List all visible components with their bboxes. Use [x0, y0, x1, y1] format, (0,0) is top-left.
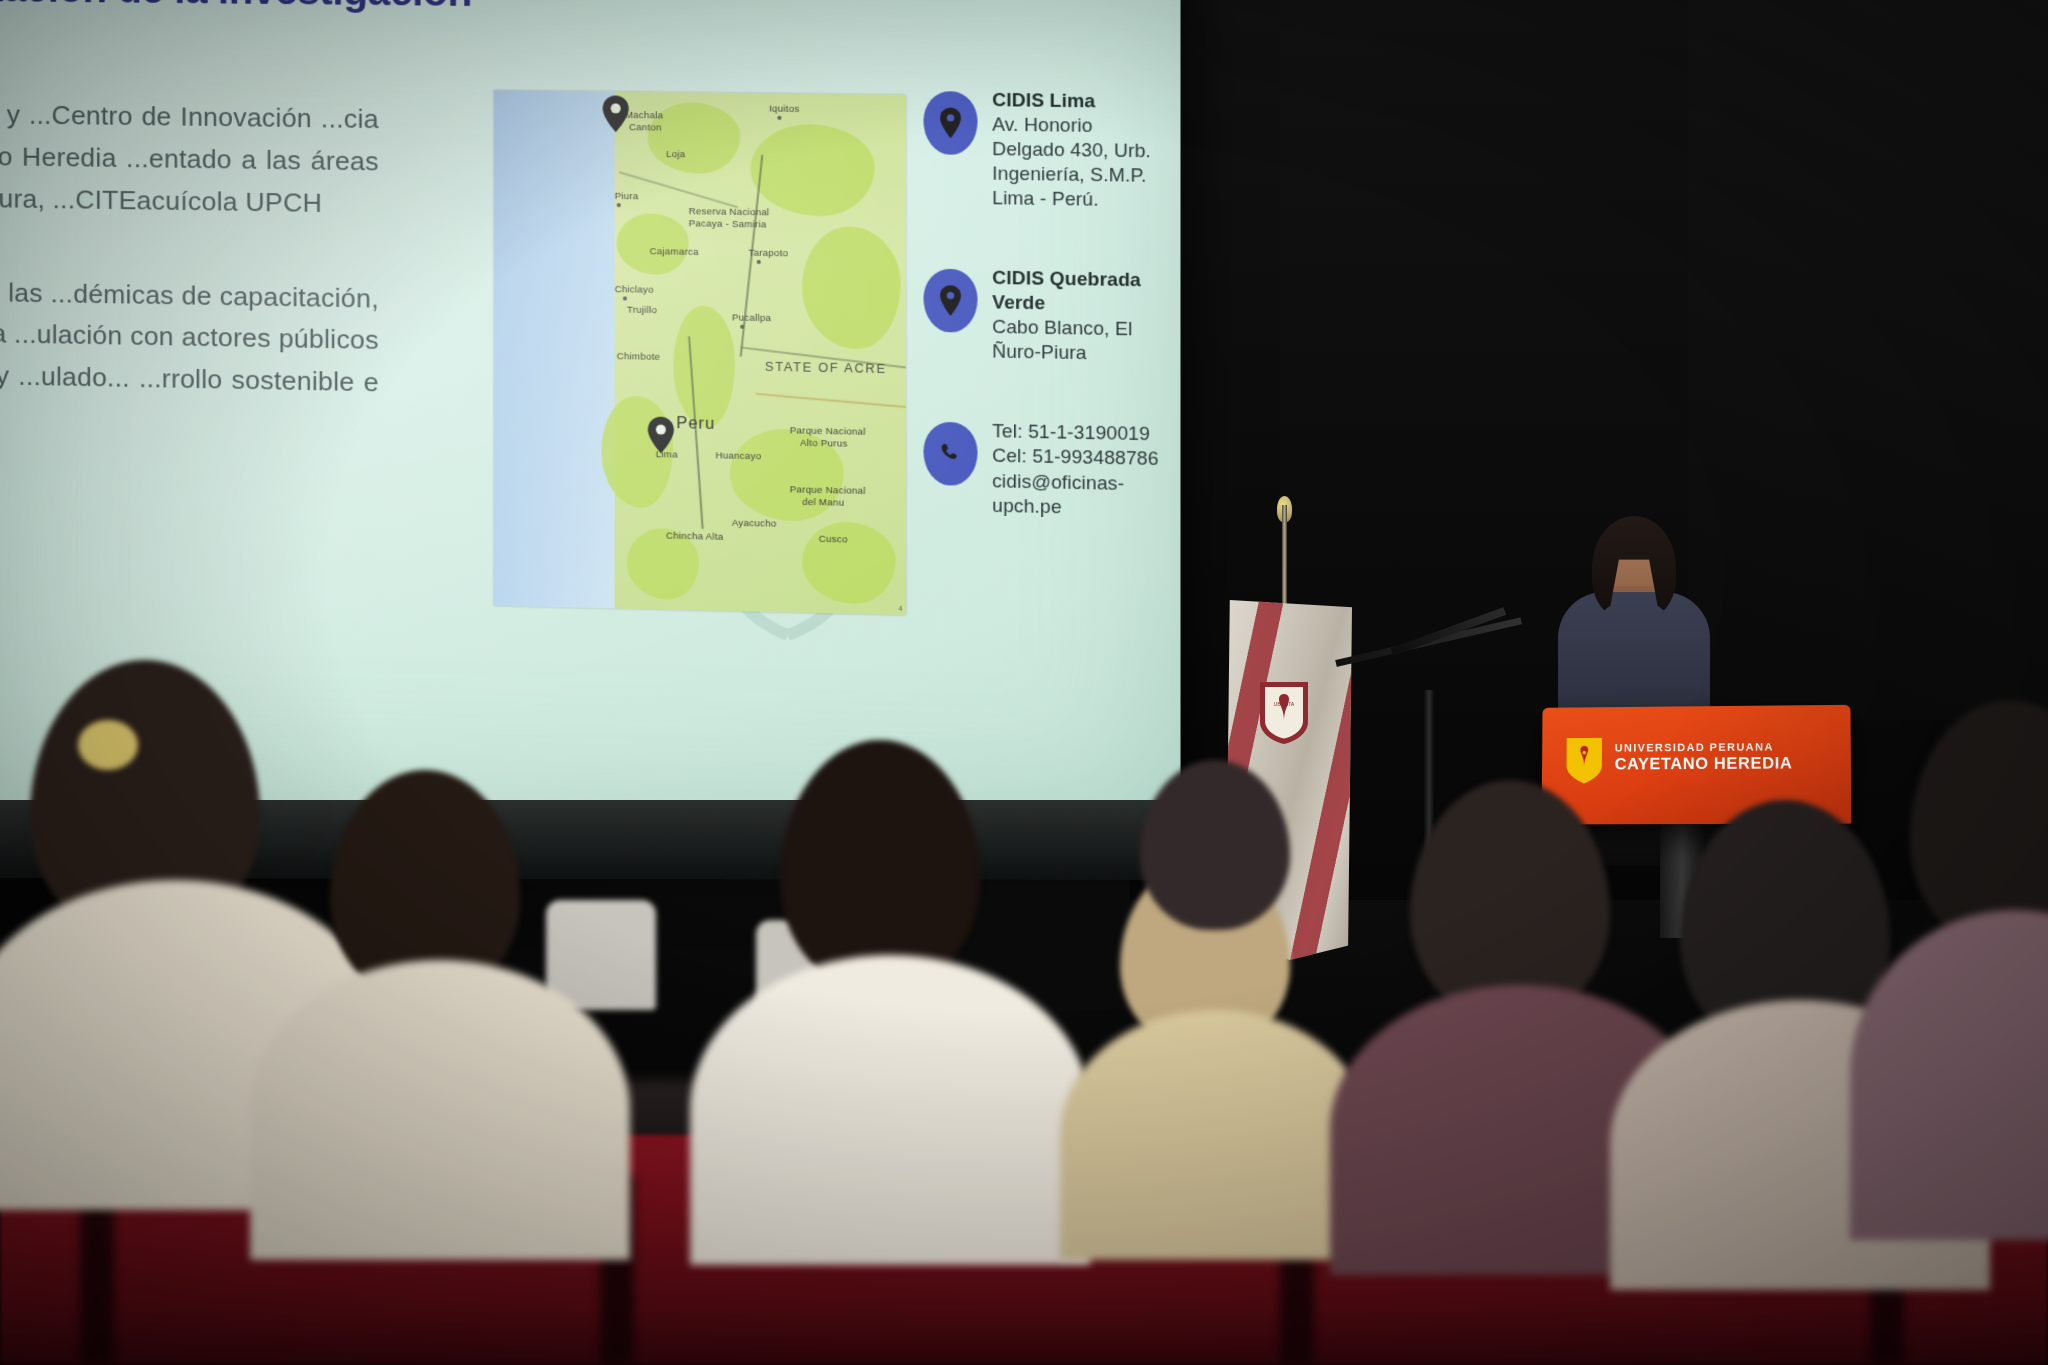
- upch-crest-icon: UBI VITA: [1258, 680, 1310, 746]
- hair-accessory: [78, 720, 138, 770]
- slide-title: ...cional y organización de la investiga…: [0, 0, 955, 73]
- slide-paragraph-2: ...gación básica y aplicada, las ...démi…: [0, 267, 379, 447]
- contact-line: Ingeniería, S.M.P.: [992, 162, 1146, 186]
- audience-body: [1060, 1010, 1370, 1260]
- contact-text: CIDIS Lima Av. Honorio Delgado 430, Urb.…: [992, 88, 1164, 213]
- location-pin-icon: [923, 269, 977, 333]
- slide-title-line2: ...ola UPCH: [0, 10, 955, 73]
- contact-line: Lima - Perú.: [992, 187, 1099, 210]
- contact-title: CIDIS Lima: [992, 88, 1164, 115]
- lima-map-pin-icon: [648, 416, 675, 453]
- slide-paragraph-1: ...ara el Desarrollo Integral y ...Centr…: [0, 90, 379, 225]
- contact-line: Ñuro-Piura: [992, 341, 1086, 364]
- map-attribution: 4: [899, 606, 903, 613]
- peru-map-image: Machala Canton Loja Piura Iquitos Reserv…: [494, 90, 906, 615]
- pacific-ocean-area: [494, 90, 615, 608]
- contact-item-phone-email: Tel: 51-1-3190019 Cel: 51-993488786 cidi…: [923, 418, 1163, 521]
- contact-text: Tel: 51-1-3190019 Cel: 51-993488786 cidi…: [992, 419, 1164, 521]
- contact-text: CIDIS Quebrada Verde Cabo Blanco, El Ñur…: [992, 266, 1164, 367]
- contact-title: CIDIS Quebrada Verde: [992, 266, 1164, 318]
- contact-line: Delgado 430, Urb.: [992, 138, 1151, 162]
- slide-body-text: ...ara el Desarrollo Integral y ...Centr…: [0, 90, 379, 499]
- contact-list: CIDIS Lima Av. Honorio Delgado 430, Urb.…: [923, 87, 1163, 577]
- wall-panel: [1688, 0, 2048, 720]
- piura-map-pin-icon: [602, 95, 629, 132]
- audience-body: [690, 955, 1090, 1265]
- contact-item-cidis-lima: CIDIS Lima Av. Honorio Delgado 430, Urb.…: [923, 87, 1163, 213]
- contact-line: upch.pe: [992, 494, 1061, 517]
- location-pin-icon: [923, 91, 977, 155]
- stage-chair: [546, 900, 656, 1010]
- audience-body: [250, 960, 630, 1260]
- podium-org-small: UNIVERSIDAD PERUANA: [1615, 741, 1793, 755]
- slide-title-line1: ...cional y organización de la investiga…: [0, 0, 472, 15]
- contact-line: cidis@oficinas-: [992, 469, 1124, 493]
- contact-line: Tel: 51-1-3190019: [992, 420, 1150, 444]
- svg-text:UBI VITA: UBI VITA: [1274, 702, 1295, 708]
- podium-org-large: CAYETANO HEREDIA: [1615, 754, 1793, 774]
- upch-shield-icon: [1565, 737, 1603, 785]
- phone-icon: [923, 422, 977, 486]
- contact-line: Cabo Blanco, El: [992, 316, 1132, 340]
- contact-line: Av. Honorio: [992, 113, 1092, 136]
- presentation-hall-scene: ...cional y organización de la investiga…: [0, 0, 2048, 1365]
- contact-item-cidis-quebrada-verde: CIDIS Quebrada Verde Cabo Blanco, El Ñur…: [923, 265, 1163, 367]
- podium-branding: UNIVERSIDAD PERUANA CAYETANO HEREDIA: [1615, 741, 1793, 773]
- contact-line: Cel: 51-993488786: [992, 445, 1158, 470]
